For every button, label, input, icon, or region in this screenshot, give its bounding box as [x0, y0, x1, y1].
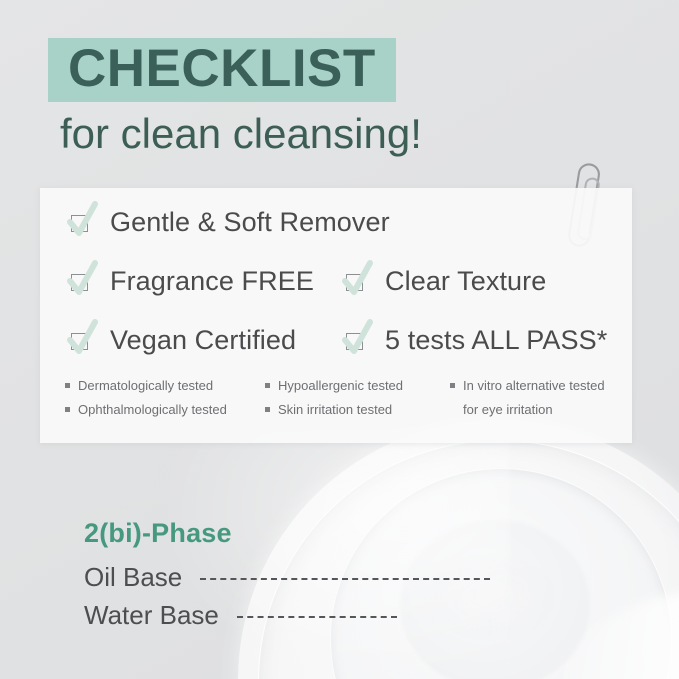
checklist-item[interactable]: Fragrance FREE: [65, 261, 314, 301]
fineprint-text: Hypoallergenic tested: [278, 374, 403, 398]
fineprint-column: In vitro alternative tested for eye irri…: [450, 374, 635, 422]
fineprint-text: In vitro alternative tested: [463, 374, 605, 398]
plate-outer-ring: [238, 420, 679, 679]
phase-water-label: Water Base: [84, 600, 219, 631]
phase-oil-label: Oil Base: [84, 562, 182, 593]
checkmark-icon: [65, 200, 99, 242]
fineprint-column: Hypoallergenic tested Skin irritation te…: [265, 374, 450, 422]
checklist-item-label: 5 tests ALL PASS*: [385, 325, 607, 356]
checklist-item-label: Clear Texture: [385, 266, 546, 297]
checklist-item[interactable]: Clear Texture: [340, 261, 546, 301]
phase-title: 2(bi)-Phase: [84, 518, 232, 549]
bullet-icon: [65, 407, 70, 412]
checkmark-icon: [340, 259, 374, 301]
checklist-item[interactable]: Vegan Certified: [65, 320, 296, 360]
checkbox-group[interactable]: [340, 261, 374, 301]
page-title: CHECKLIST: [68, 36, 376, 102]
checklist-items: Gentle & Soft Remover Fragrance FREE: [40, 188, 632, 379]
fineprint-text: Dermatologically tested: [78, 374, 213, 398]
bullet-icon: [265, 383, 270, 388]
bullet-icon: [65, 383, 70, 388]
checkbox-group[interactable]: [65, 320, 99, 360]
checkmark-icon: [340, 318, 374, 360]
fineprint-text: Skin irritation tested: [278, 398, 392, 422]
fineprint-text: for eye irritation: [463, 398, 553, 422]
background-soft-wash: [150, 430, 510, 679]
phase-row-water: Water Base: [84, 600, 397, 631]
fineprint-line: Hypoallergenic tested: [265, 374, 450, 398]
plate-rim: [258, 440, 679, 679]
checklist-row: Vegan Certified 5 tests ALL PASS*: [40, 320, 632, 379]
checklist-item-label: Vegan Certified: [110, 325, 296, 356]
fineprint-line: Ophthalmologically tested: [65, 398, 265, 422]
fineprint-text: Ophthalmologically tested: [78, 398, 227, 422]
plate-edge-gloss: [545, 567, 679, 679]
checklist-row: Gentle & Soft Remover: [40, 202, 632, 261]
fineprint-line: In vitro alternative tested: [450, 374, 635, 398]
phase-water-dashline: [237, 616, 397, 618]
checkbox-group[interactable]: [65, 261, 99, 301]
checkmark-icon: [65, 259, 99, 301]
plate-core-highlight: [400, 520, 590, 679]
fineprint-block: Dermatologically tested Ophthalmological…: [65, 374, 635, 422]
phase-oil-dashline: [200, 578, 490, 580]
checklist-item-label: Gentle & Soft Remover: [110, 207, 390, 238]
checklist-row: Fragrance FREE Clear Texture: [40, 261, 632, 320]
checklist-item[interactable]: 5 tests ALL PASS*: [340, 320, 607, 360]
bullet-icon: [265, 407, 270, 412]
fineprint-line: for eye irritation: [450, 398, 635, 422]
poster-canvas: CHECKLIST for clean cleansing!: [0, 0, 679, 679]
phase-row-oil: Oil Base: [84, 562, 490, 593]
page-subtitle: for clean cleansing!: [60, 108, 422, 160]
fineprint-line: Skin irritation tested: [265, 398, 450, 422]
checklist-item[interactable]: Gentle & Soft Remover: [65, 202, 390, 242]
checkbox-group[interactable]: [65, 202, 99, 242]
fineprint-line: Dermatologically tested: [65, 374, 265, 398]
checklist-panel: Gentle & Soft Remover Fragrance FREE: [40, 188, 632, 443]
checkbox-group[interactable]: [340, 320, 374, 360]
checklist-item-label: Fragrance FREE: [110, 266, 314, 297]
checkmark-icon: [65, 318, 99, 360]
bullet-icon: [450, 383, 455, 388]
fineprint-column: Dermatologically tested Ophthalmological…: [65, 374, 265, 422]
